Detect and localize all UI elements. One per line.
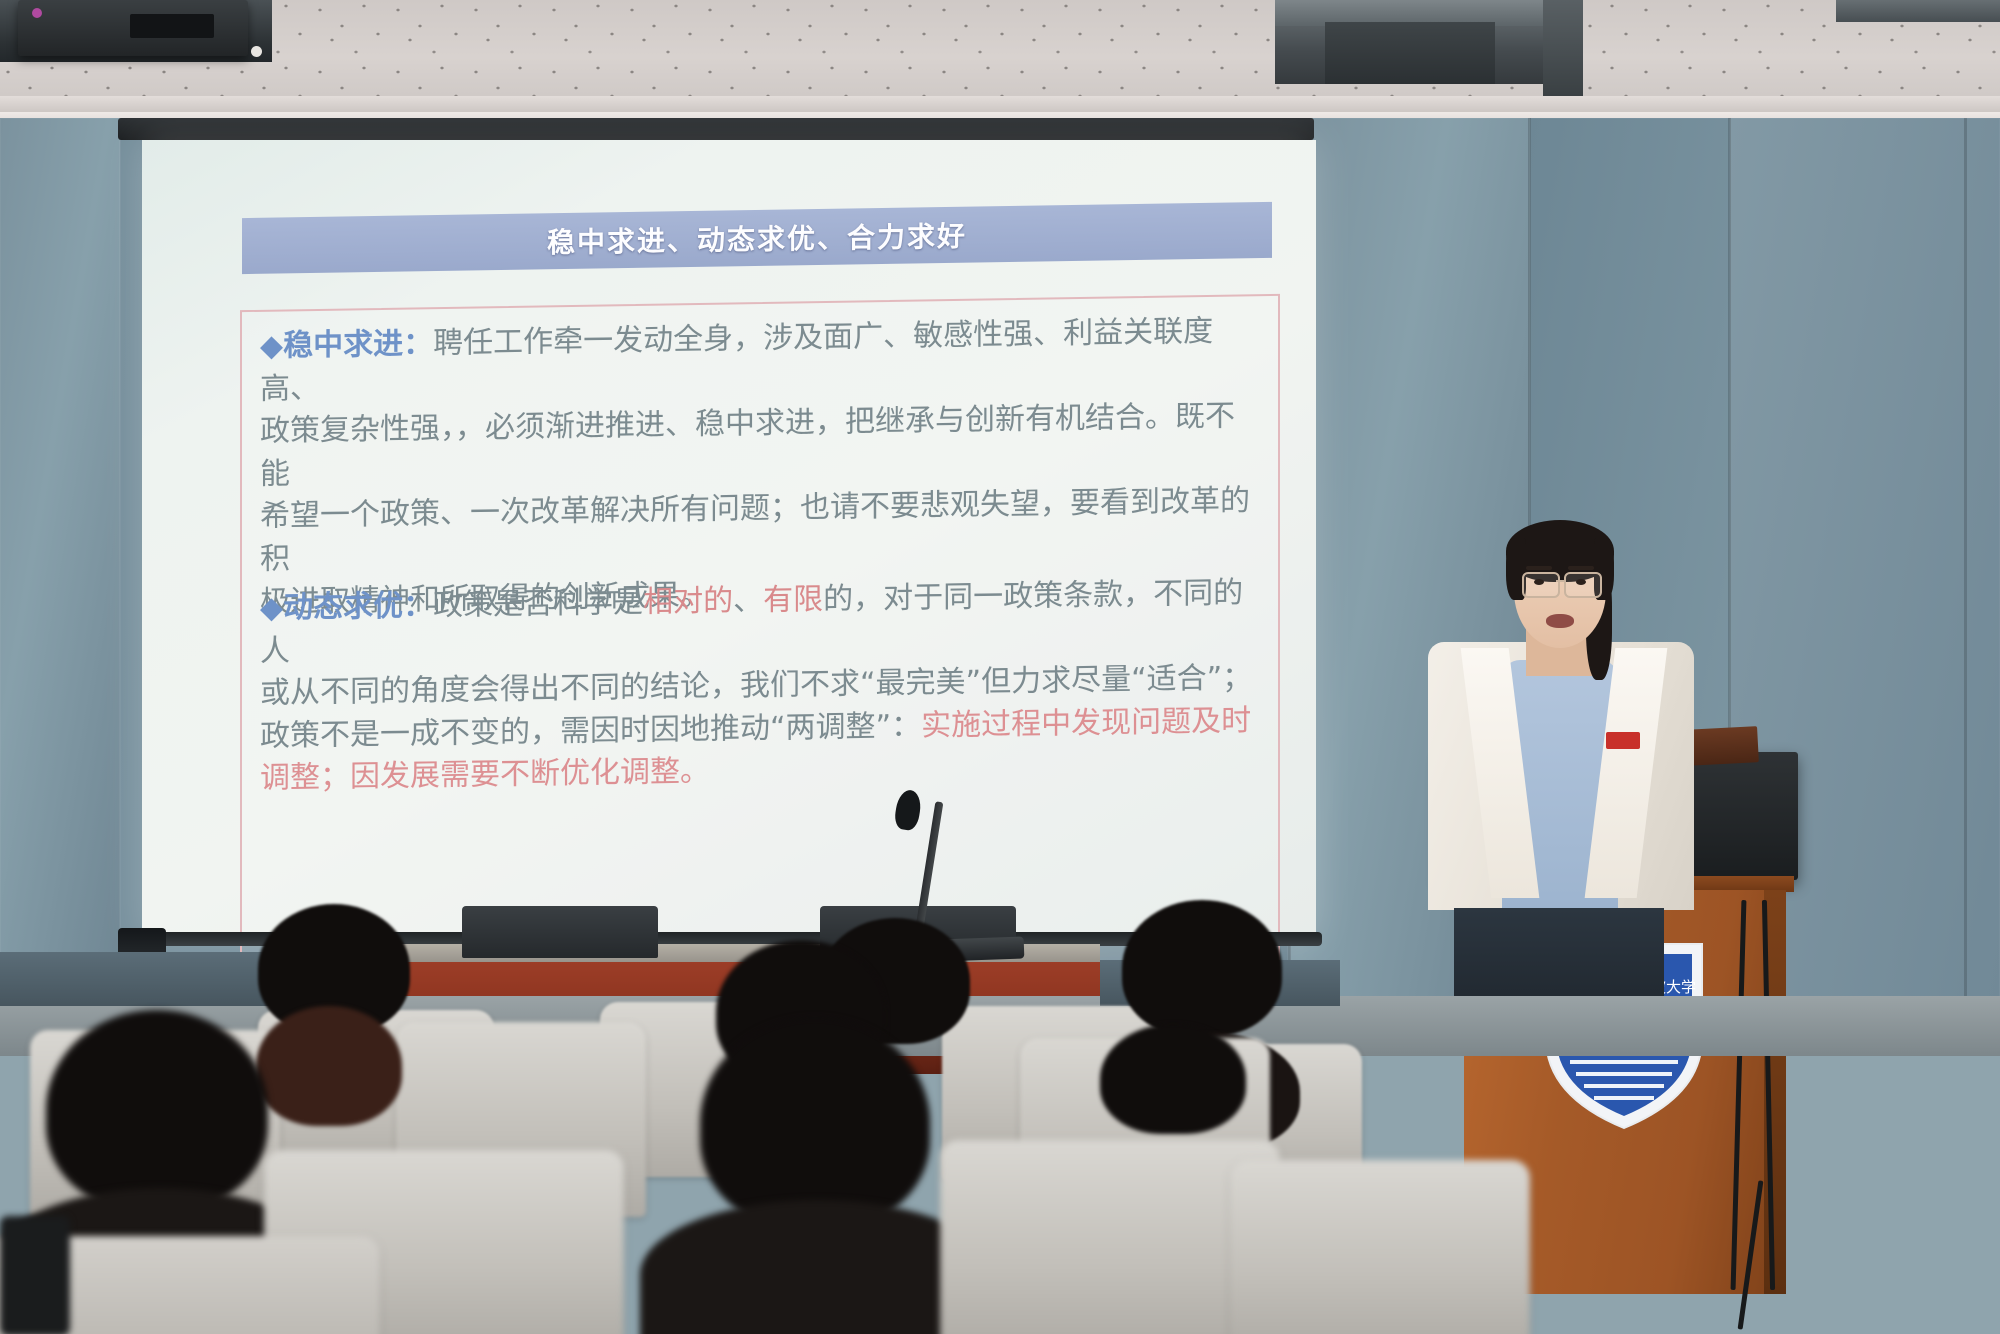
eyeglasses-bridge-icon bbox=[1556, 580, 1564, 582]
slide-p1-line2: 政策复杂性强，，必须渐进推进、稳中求进，把继承与创新有机结合。既不能 bbox=[260, 395, 1262, 496]
screen-housing bbox=[118, 118, 1314, 140]
wall-panel-1 bbox=[0, 118, 120, 998]
ceiling-rail-right bbox=[1836, 0, 2000, 22]
projector-indicator-led bbox=[32, 8, 42, 18]
speaker-lapel-badge bbox=[1606, 732, 1640, 749]
foreground-equipment bbox=[0, 1216, 70, 1334]
slide-p1-line3: 希望一个政策、一次改革解决所有问题；也请不要悲观失望，要看到改革的积 bbox=[260, 481, 1262, 582]
ceiling-duct-recess bbox=[1325, 22, 1495, 84]
slide-heading-2: 动态求优 bbox=[283, 589, 403, 626]
speaker-eye-left bbox=[1534, 579, 1544, 585]
audience-head-4 bbox=[256, 1006, 402, 1126]
slide-title-bar: 稳中求进、动态求优、合力求好 bbox=[242, 202, 1272, 274]
photo-scene: 稳中求进、动态求优、合力求好 ◆稳中求进：聘任工作牵一发动全身，涉及面广、敏感性… bbox=[0, 0, 2000, 1334]
slide-bullet-2: ◆ bbox=[260, 591, 283, 626]
projector-lens bbox=[251, 46, 262, 57]
wall-seam-4 bbox=[1964, 118, 1967, 998]
eyeglasses-left-lens-icon bbox=[1522, 572, 1560, 598]
speaker bbox=[1410, 510, 1710, 930]
projection-screen: 稳中求进、动态求优、合力求好 ◆稳中求进：聘任工作牵一发动全身，涉及面广、敏感性… bbox=[142, 140, 1316, 940]
audience-head-front-1 bbox=[46, 1010, 268, 1210]
slide-colon-1: ： bbox=[403, 326, 433, 361]
ceiling-projector bbox=[18, 0, 248, 56]
audience-head-3 bbox=[1122, 900, 1282, 1036]
audience-head-front-2 bbox=[700, 1018, 930, 1228]
audience-head-6 bbox=[1100, 1024, 1246, 1134]
slide-title-text: 稳中求进、动态求优、合力求好 bbox=[547, 215, 967, 262]
projector-vent bbox=[130, 14, 214, 38]
seat-front-3 bbox=[1230, 1160, 1530, 1334]
speaker-brow-right bbox=[1568, 566, 1594, 570]
eyeglasses-right-lens-icon bbox=[1564, 572, 1602, 598]
slide-heading-1: 稳中求进 bbox=[283, 327, 403, 364]
speaker-eye-right bbox=[1576, 579, 1586, 585]
slide-paragraph-2: ◆动态求优：政策是否科学是相对的、有限的，对于同一政策条款，不同的人 或从不同的… bbox=[260, 572, 1262, 801]
ceiling-band bbox=[0, 96, 2000, 112]
slide-bullet-1: ◆ bbox=[260, 329, 283, 364]
speaker-mouth bbox=[1546, 614, 1574, 628]
slide-colon-2: ： bbox=[403, 588, 433, 623]
speaker-brow-left bbox=[1526, 566, 1552, 570]
stage-chair-1 bbox=[462, 906, 658, 958]
seat-front-2 bbox=[940, 1140, 1280, 1334]
ceiling-beam-right bbox=[1543, 0, 1583, 96]
